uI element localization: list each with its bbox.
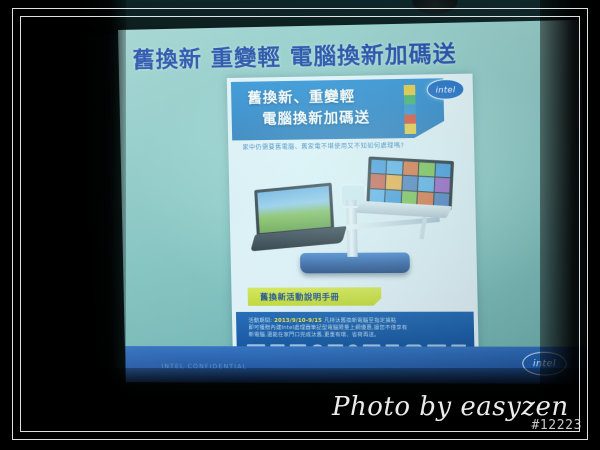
photo-watermark-id: #12223 — [531, 418, 582, 433]
photograph: 舊換新 重變輕 電腦換新加碼送 舊換新、重變輕 電腦換新加碼送 intel 家中… — [0, 0, 600, 450]
photo-frame-inner — [20, 16, 580, 432]
